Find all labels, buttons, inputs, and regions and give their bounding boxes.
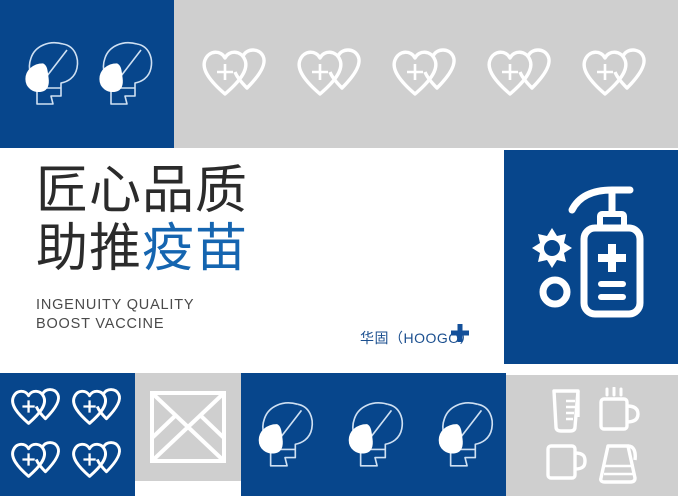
mug-icon [542, 438, 590, 484]
double-heart-plus-icon [68, 438, 128, 484]
subtitle-line-1: INGENUITY QUALITY [36, 296, 194, 315]
headline-line-2-dark: 助推 [36, 220, 142, 278]
double-heart-plus-icon [482, 44, 560, 104]
double-heart-icon-group-top [174, 0, 678, 148]
teapot-icon [594, 438, 642, 484]
headline-line-2: 助推疫苗 [36, 220, 248, 278]
double-heart-plus-icon [68, 385, 128, 431]
poster-canvas: 匠心品质 助推疫苗 INGENUITY QUALITY BOOST VACCIN… [0, 0, 678, 496]
bottom-white-strip [135, 481, 241, 496]
headline-line-2-blue: 疫苗 [142, 220, 248, 278]
headline-panel: 匠心品质 助推疫苗 INGENUITY QUALITY BOOST VACCIN… [0, 148, 504, 364]
glassware-icon-group [506, 375, 678, 496]
double-heart-plus-icon [292, 44, 370, 104]
plus-icon [449, 322, 471, 344]
subtitle-line-2: BOOST VACCINE [36, 315, 194, 334]
steaming-mug-icon [594, 387, 642, 433]
masked-head-icon [342, 398, 406, 472]
headline-block: 匠心品质 助推疫苗 [36, 162, 248, 278]
double-heart-icon-group-bottom [0, 373, 135, 496]
double-heart-plus-icon [387, 44, 465, 104]
top-right-gray-panel [174, 0, 678, 148]
sanitizer-panel [504, 150, 678, 364]
bottom-left-blue-panel [0, 373, 135, 496]
bottom-right-gray-panel [506, 375, 678, 496]
bottom-middle-blue-panel [241, 373, 506, 496]
broken-image-placeholder-icon [149, 390, 227, 464]
masked-head-icon-group-bottom [241, 373, 506, 496]
double-heart-plus-icon [7, 385, 67, 431]
masked-head-icon [252, 398, 316, 472]
broken-image-placeholder-panel [135, 373, 241, 481]
subtitle-block: INGENUITY QUALITY BOOST VACCINE [36, 296, 194, 334]
sanitizer-pump-bottle-icon [522, 182, 662, 332]
masked-head-icon [19, 38, 81, 110]
headline-line-1: 匠心品质 [36, 162, 248, 220]
measuring-beaker-icon [542, 387, 590, 433]
masked-head-icon [432, 398, 496, 472]
masked-head-icon [93, 38, 155, 110]
double-heart-plus-icon [197, 44, 275, 104]
double-heart-plus-icon [577, 44, 655, 104]
top-left-blue-panel [0, 0, 174, 148]
masked-head-icon-group-top [0, 0, 174, 148]
double-heart-plus-icon [7, 438, 67, 484]
